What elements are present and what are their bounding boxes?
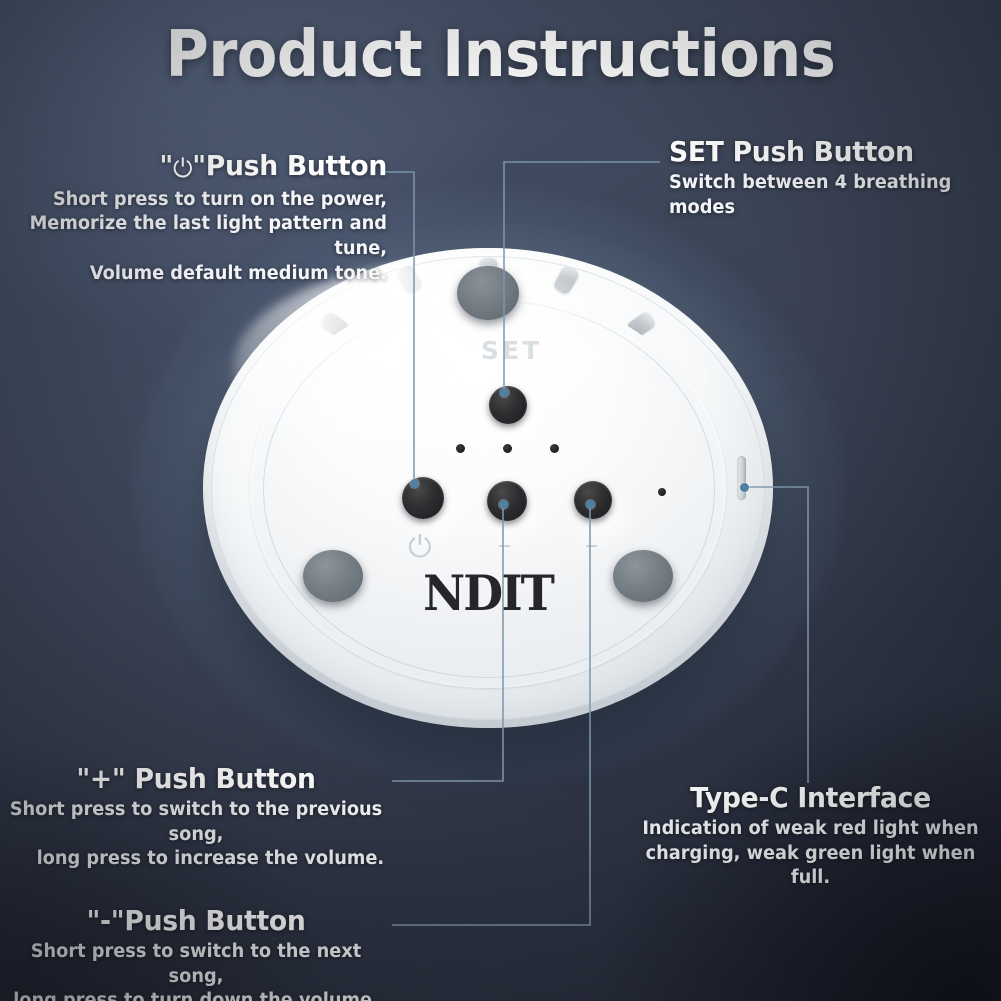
- callout-line-typec: [744, 487, 808, 783]
- annotation-typec-line-2: charging, weak green light when full.: [628, 842, 994, 891]
- annotation-power-line-2: Memorize the last light pattern and tune…: [15, 212, 387, 261]
- annotation-plus-heading: "+" Push Button: [10, 763, 382, 795]
- annotation-minus-line-2: long press to turn down the volume.: [8, 989, 384, 1001]
- annotation-plus: "+" Push Button Short press to switch to…: [0, 763, 392, 872]
- annotation-minus-line-1: Short press to switch to the next song,: [8, 940, 384, 989]
- callout-dot-minus: [586, 500, 595, 509]
- annotation-power-heading-suffix: "Push Button: [192, 149, 387, 182]
- callout-dot-typec: [740, 483, 749, 492]
- callout-line-plus: [392, 504, 503, 781]
- callout-line-minus: [392, 504, 590, 925]
- quote-open: ": [159, 149, 173, 182]
- annotation-plus-line-2: long press to increase the volume.: [8, 847, 384, 872]
- annotation-typec-heading: Type-C Interface: [630, 782, 992, 814]
- annotation-set: SET Push Button Switch between 4 breathi…: [669, 136, 1001, 220]
- annotation-set-line-1: Switch between 4 breathing modes: [669, 171, 988, 220]
- annotation-set-heading: SET Push Button: [669, 136, 984, 168]
- annotation-typec-line-1: Indication of weak red light when: [628, 817, 994, 842]
- callout-dot-set: [500, 388, 509, 397]
- annotation-typec: Type-C Interface Indication of weak red …: [620, 782, 1001, 891]
- infographic-canvas: Product Instructions SET: [0, 0, 1001, 1001]
- annotation-power-line-3: Volume default medium tone.: [15, 262, 387, 287]
- annotation-minus: "-"Push Button Short press to switch to …: [0, 905, 392, 1001]
- annotation-minus-heading: "-"Push Button: [10, 905, 382, 937]
- callout-line-set: [504, 162, 660, 392]
- annotation-power: "⏻"Push Button Short press to turn on th…: [0, 150, 387, 286]
- annotation-plus-line-1: Short press to switch to the previous so…: [8, 798, 384, 847]
- callout-dot-power: [410, 479, 419, 488]
- power-icon: ⏻: [173, 155, 192, 185]
- annotation-power-heading: "⏻"Push Button: [19, 150, 387, 185]
- callout-dot-plus: [499, 500, 508, 509]
- annotation-power-line-1: Short press to turn on the power,: [15, 188, 387, 213]
- callout-line-power: [385, 172, 414, 484]
